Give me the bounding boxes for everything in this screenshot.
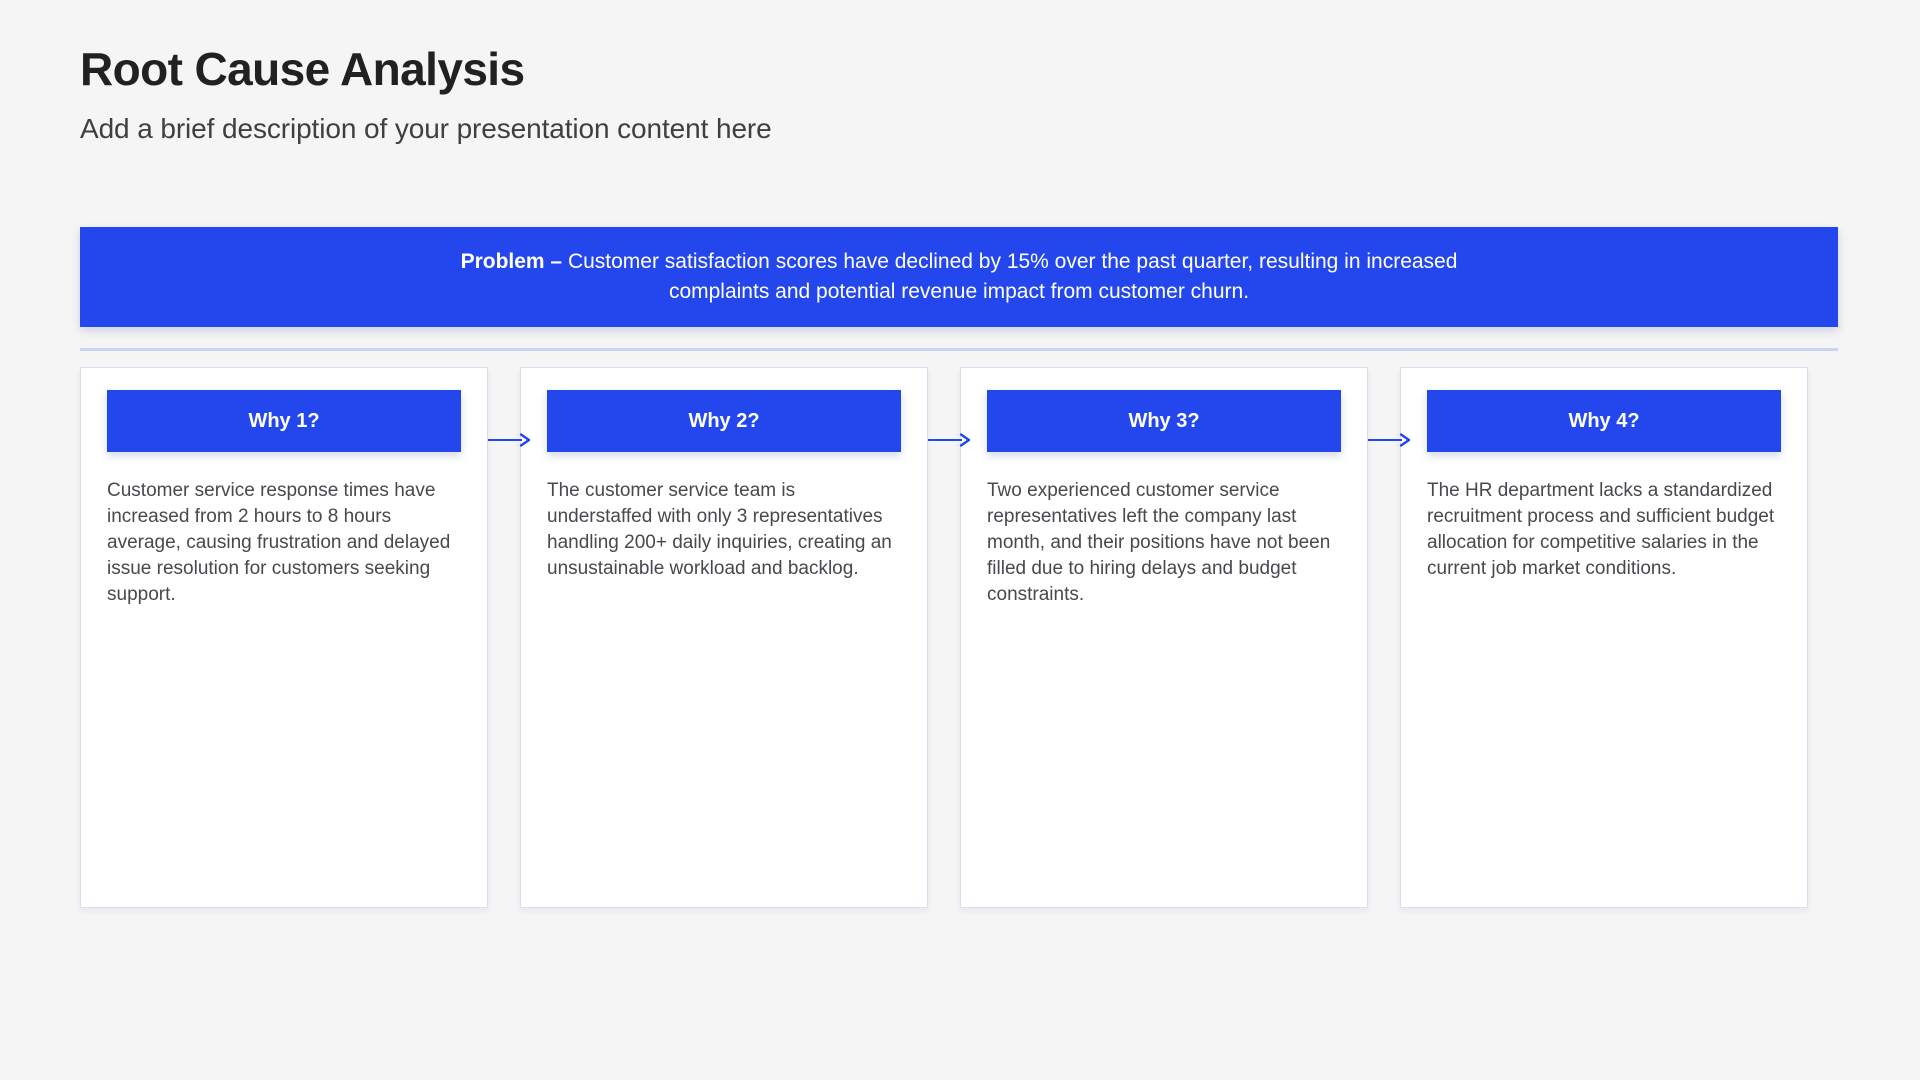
why-card-2-body: The customer service team is understaffe… [547,478,901,582]
problem-statement: Problem – Customer satisfaction scores h… [434,247,1484,307]
why-card-3-body: Two experienced customer service represe… [987,478,1341,608]
card-slot-3: Why 3? Two experienced customer service … [960,367,1400,908]
why-card-2[interactable]: Why 2? The customer service team is unde… [520,367,928,908]
section-divider [80,348,1838,351]
why-card-4[interactable]: Why 4? The HR department lacks a standar… [1400,367,1808,908]
problem-banner: Problem – Customer satisfaction scores h… [80,227,1838,327]
why-card-2-header: Why 2? [547,390,901,452]
why-card-1-header: Why 1? [107,390,461,452]
page-subtitle: Add a brief description of your presenta… [80,112,1840,146]
slide-root: Root Cause Analysis Add a brief descript… [0,0,1920,1080]
why-card-3-title: Why 3? [1128,410,1199,433]
why-card-2-title: Why 2? [688,410,759,433]
why-card-1-body: Customer service response times have inc… [107,478,461,608]
why-card-4-body: The HR department lacks a standardized r… [1427,478,1781,582]
card-slot-2: Why 2? The customer service team is unde… [520,367,960,908]
why-card-3[interactable]: Why 3? Two experienced customer service … [960,367,1368,908]
page-title: Root Cause Analysis [80,44,1840,96]
why-card-4-header: Why 4? [1427,390,1781,452]
why-card-1-title: Why 1? [248,410,319,433]
why-cards-row: Why 1? Customer service response times h… [80,367,1840,908]
why-card-1[interactable]: Why 1? Customer service response times h… [80,367,488,908]
card-slot-4: Why 4? The HR department lacks a standar… [1400,367,1840,908]
why-card-4-title: Why 4? [1568,410,1639,433]
problem-description: Customer satisfaction scores have declin… [562,250,1457,303]
slide-header: Root Cause Analysis Add a brief descript… [80,44,1840,145]
problem-label: Problem – [461,250,563,273]
card-slot-1: Why 1? Customer service response times h… [80,367,520,908]
why-card-3-header: Why 3? [987,390,1341,452]
